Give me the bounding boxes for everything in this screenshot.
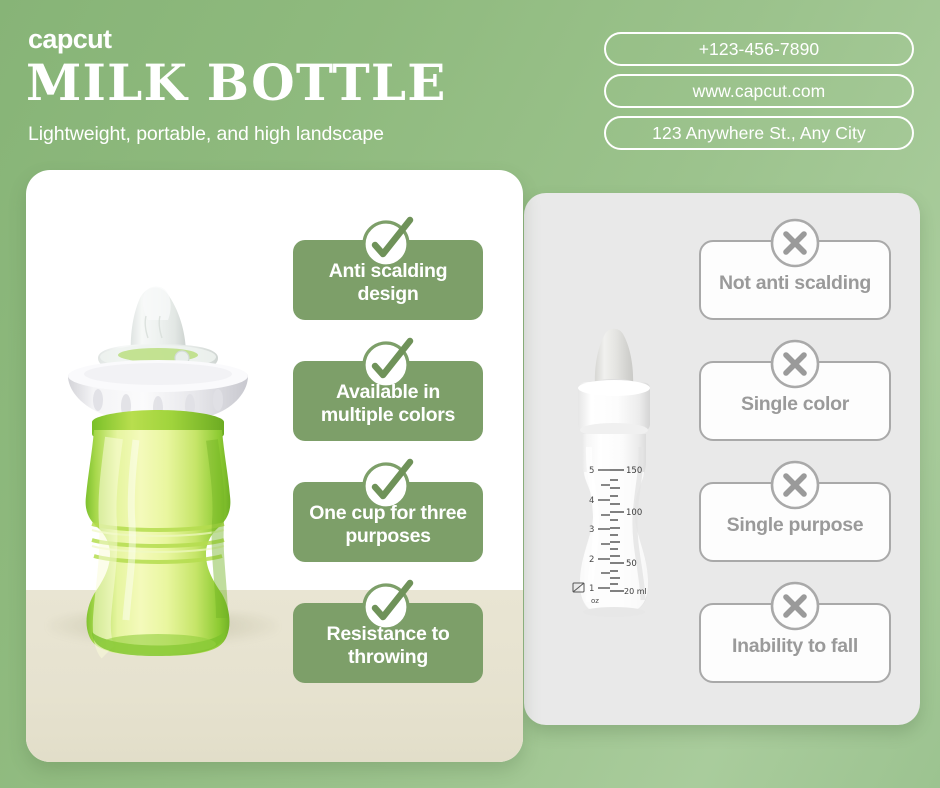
con-card-label: Single color: [741, 393, 849, 416]
con-card-label: Inability to fall: [732, 635, 858, 658]
x-circle-icon: [767, 215, 823, 271]
contact-pill-group: +123-456-7890 www.capcut.com 123 Anywher…: [604, 32, 914, 150]
clear-milk-bottle-image: 5 4 3 2 1 oz: [548, 322, 680, 622]
contact-pill-address[interactable]: 123 Anywhere St., Any City: [604, 116, 914, 150]
pros-card-list: Anti scalding design Available in multip…: [293, 240, 483, 683]
contact-pill-phone[interactable]: +123-456-7890: [604, 32, 914, 66]
con-card-label: Single purpose: [727, 514, 864, 537]
pro-card-label: Anti scalding design: [301, 260, 475, 305]
pro-card-label: Resistance to throwing: [301, 623, 475, 668]
svg-text:3: 3: [589, 525, 594, 535]
pro-card[interactable]: Available in multiple colors: [293, 361, 483, 441]
con-card[interactable]: Inability to fall: [699, 603, 891, 683]
green-milk-bottle-image: [40, 258, 278, 662]
x-circle-icon: [767, 578, 823, 634]
svg-text:150: 150: [626, 466, 642, 476]
x-circle-icon: [767, 457, 823, 513]
pro-card[interactable]: One cup for three purposes: [293, 482, 483, 562]
svg-text:5: 5: [589, 466, 594, 476]
page-tagline: Lightweight, portable, and high landscap…: [28, 123, 384, 146]
poster-canvas: capcut MILK BOTTLE Lightweight, portable…: [0, 0, 940, 788]
svg-text:4: 4: [589, 496, 594, 506]
con-card[interactable]: Not anti scalding: [699, 240, 891, 320]
con-card[interactable]: Single purpose: [699, 482, 891, 562]
con-card[interactable]: Single color: [699, 361, 891, 441]
con-card-label: Not anti scalding: [719, 272, 871, 295]
brand-logo: capcut: [28, 24, 111, 55]
nipple-shape: [595, 329, 633, 386]
x-circle-icon: [767, 336, 823, 392]
pro-card-label: Available in multiple colors: [301, 381, 475, 426]
contact-pill-website[interactable]: www.capcut.com: [604, 74, 914, 108]
svg-text:oz: oz: [591, 597, 599, 605]
pro-card[interactable]: Resistance to throwing: [293, 603, 483, 683]
pro-card[interactable]: Anti scalding design: [293, 240, 483, 320]
svg-text:1: 1: [589, 584, 594, 594]
svg-text:100: 100: [626, 508, 642, 518]
pro-card-label: One cup for three purposes: [301, 502, 475, 547]
page-title: MILK BOTTLE: [26, 58, 447, 108]
svg-text:50: 50: [626, 559, 637, 569]
svg-text:2: 2: [589, 555, 594, 565]
svg-text:20 ml: 20 ml: [624, 587, 647, 596]
cons-card-list: Not anti scalding Single color Single pu…: [699, 240, 891, 683]
